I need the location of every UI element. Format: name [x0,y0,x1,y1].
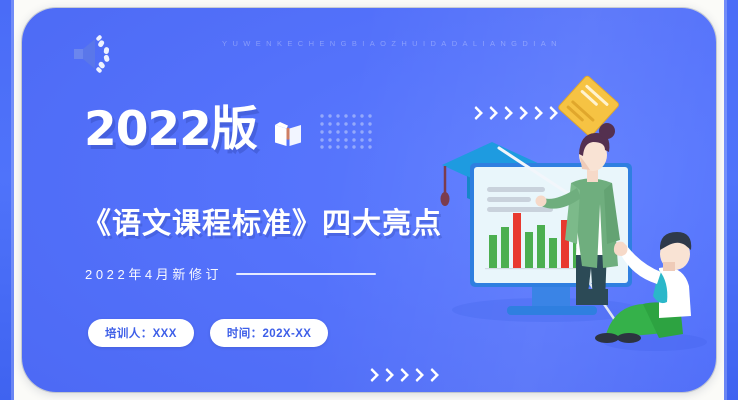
page-subtitle: 《语文课程标准》四大亮点 [82,200,442,242]
meta-pill-group: 培训人：XXX 时间：202X-XX [88,319,328,347]
open-book-icon [273,119,303,149]
revision-date-row: 2022年4月新修订 [85,264,376,283]
megaphone-icon [70,34,116,74]
chevron-right-icon [400,367,410,383]
online-teaching-illustration [437,70,716,390]
right-edge-strip [724,0,738,400]
trainer-pill[interactable]: 培训人：XXX [88,319,194,347]
horizontal-rule [236,273,376,275]
pinyin-subtitle: YUWENKECHENGBIAOZHUIDADALIANGDIAN [177,39,607,48]
chevron-right-icon [370,367,380,383]
headline-row: 2022版 [84,106,373,153]
time-pill[interactable]: 时间：202X-XX [210,319,329,347]
chevron-arrows-right-bottom [370,367,440,383]
slide-canvas: YUWENKECHENGBIAOZHUIDADALIANGDIAN 2022版 [0,0,738,400]
chevron-right-icon [385,367,395,383]
revision-date-label: 2022年4月新修订 [85,264,222,283]
slide-card: YUWENKECHENGBIAOZHUIDADALIANGDIAN 2022版 [22,8,716,392]
page-title: 2022版 [84,106,257,153]
chevron-right-icon [415,367,425,383]
dot-grid-decoration [319,113,373,154]
left-edge-strip [0,0,14,400]
